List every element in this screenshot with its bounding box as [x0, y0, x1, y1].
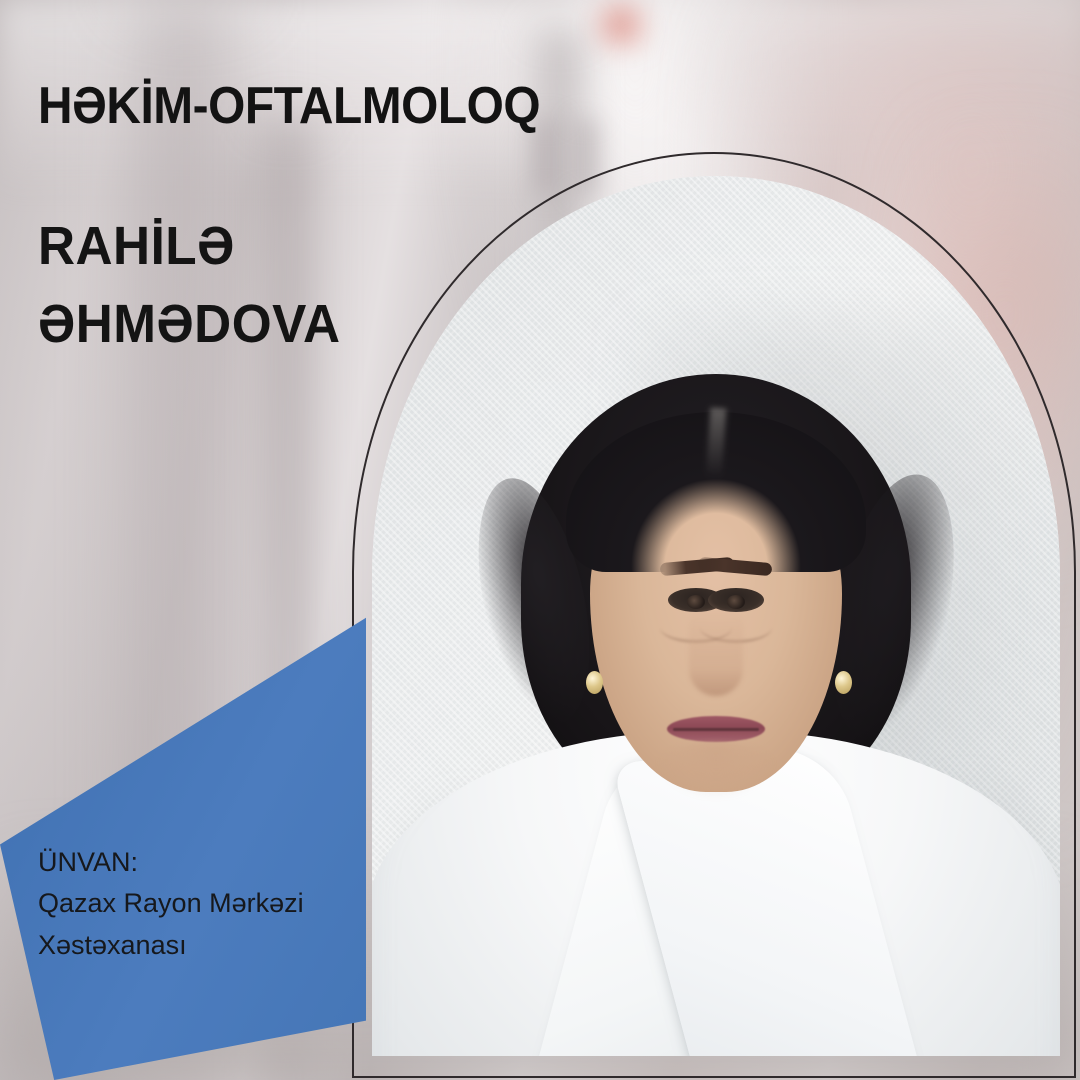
earring-right [835, 671, 852, 694]
portrait-person [372, 176, 1060, 1056]
chin [656, 742, 776, 798]
nose [689, 604, 743, 696]
mouth [667, 716, 765, 742]
address-label: ÜNVAN: [38, 842, 138, 883]
portrait-photo [372, 176, 1060, 1056]
earring-left [586, 671, 603, 694]
page-title: HƏKİM-OFTALMOLOQ [38, 76, 540, 136]
address-value: Qazax Rayon Mərkəzi Xəstəxanası [38, 883, 304, 967]
doctor-profile-card: HƏKİM-OFTALMOLOQ RAHİLƏ ƏHMƏDOVA ÜNVAN: … [0, 0, 1080, 1080]
doctor-name: RAHİLƏ ƏHMƏDOVA [38, 208, 340, 364]
